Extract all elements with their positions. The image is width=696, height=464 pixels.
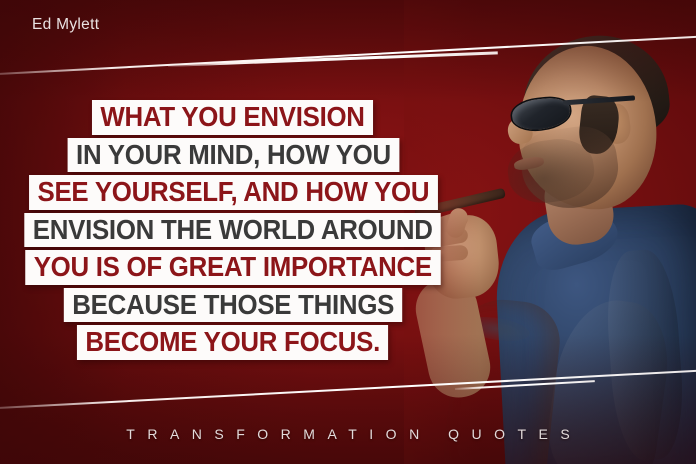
quote-line: WHAT YOU ENVISION xyxy=(92,100,373,135)
quote-line: BECOME YOUR FOCUS. xyxy=(77,325,389,360)
quote-line: IN YOUR MIND, HOW YOU xyxy=(67,138,399,173)
quote-block: WHAT YOU ENVISION IN YOUR MIND, HOW YOU … xyxy=(0,100,466,360)
quote-line: ENVISION THE WORLD AROUND xyxy=(25,213,442,248)
quote-line: YOU IS OF GREAT IMPORTANCE xyxy=(25,250,440,285)
brand-watermark: TRANSFORMATION QUOTES xyxy=(0,426,696,442)
quote-graphic: Ed Mylett WHAT YOU ENVISION IN YOUR MIND… xyxy=(0,0,696,464)
quote-line: BECAUSE THOSE THINGS xyxy=(64,288,403,323)
quote-line: SEE YOURSELF, AND HOW YOU xyxy=(29,175,438,210)
author-name: Ed Mylett xyxy=(32,16,99,34)
